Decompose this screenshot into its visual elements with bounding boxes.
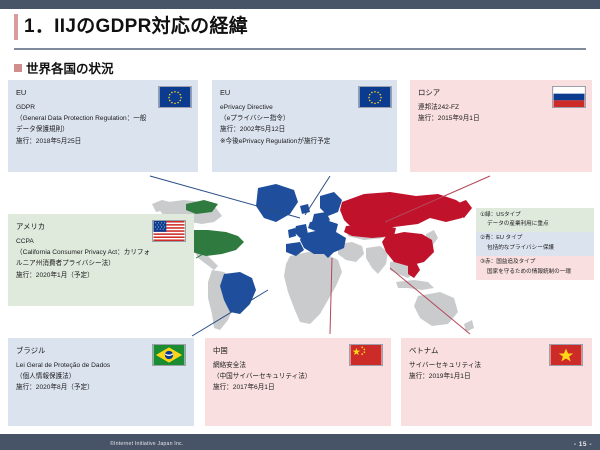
info-line: データ保護規則） <box>16 124 190 135</box>
header-strip <box>0 0 600 9</box>
legend-description: データの産業利用に重点 <box>480 220 590 229</box>
world-map <box>150 178 480 340</box>
info-line: 施行：2017年6月1日 <box>213 382 383 393</box>
info-line: 施行：2018年5月25日 <box>16 136 190 147</box>
section-subheading: 世界各国の状況 <box>14 58 114 77</box>
info-line: （個人情報保護法） <box>16 371 186 382</box>
info-line: 施行：2019年1月1日 <box>409 371 584 382</box>
square-bullet-icon <box>14 64 22 72</box>
info-line: （General Data Protection Regulation：一般 <box>16 113 190 124</box>
eu-flag-icon <box>158 86 192 108</box>
info-line: 施行：2020年8月（予定） <box>16 382 186 393</box>
info-line: （eプライバシー指令） <box>220 113 389 124</box>
title-divider <box>14 48 586 50</box>
legend-title: ③赤：国益追及タイプ <box>480 258 590 267</box>
brazil-flag-icon <box>152 344 186 366</box>
info-line: （中国サイバーセキュリティ法） <box>213 371 383 382</box>
info-line: ※今後ePrivacy Regulationが施行予定 <box>220 136 389 147</box>
eu-flag-icon <box>358 86 392 108</box>
info-line: 施行：2015年9月1日 <box>418 113 584 124</box>
info-line: （California Consumer Privacy Act：カリフォ <box>16 247 186 258</box>
legend-description: 国家を守るための情報統制の一環 <box>480 268 590 277</box>
legend-item-us-type: ①緑：USタイプ データの産業利用に重点 <box>476 208 594 232</box>
vietnam-flag-icon <box>549 344 583 366</box>
section-subheading-label: 世界各国の状況 <box>26 58 114 77</box>
page-number: - 15 - <box>574 441 592 448</box>
info-line: 施行：2002年5月12日 <box>220 124 389 135</box>
title-accent-bar <box>14 14 18 40</box>
china-flag-icon <box>349 344 383 366</box>
legend-title: ②青：EU タイプ <box>480 234 590 243</box>
info-line: 施行：2020年1月（予定） <box>16 270 186 281</box>
usa-flag-icon <box>152 220 186 242</box>
map-region-national-interest-type <box>340 192 472 278</box>
info-line: ルニア州消費者プライバシー法） <box>16 258 186 269</box>
footer-copyright: ©Internet Initiative Japan Inc. <box>110 441 183 447</box>
page-title: 1．IIJのGDPR対応の経緯 <box>24 14 248 40</box>
legend-item-national-interest-type: ③赤：国益追及タイプ 国家を守るための情報統制の一環 <box>476 256 594 280</box>
legend-title: ①緑：USタイプ <box>480 211 590 220</box>
map-legend: ①緑：USタイプ データの産業利用に重点 ②青：EU タイプ 包括的なプライバシ… <box>476 208 594 280</box>
legend-description: 包括的なプライバシー保護 <box>480 244 590 253</box>
legend-item-eu-type: ②青：EU タイプ 包括的なプライバシー保護 <box>476 232 594 256</box>
russia-flag-icon <box>552 86 586 108</box>
footer-bar <box>0 434 600 450</box>
